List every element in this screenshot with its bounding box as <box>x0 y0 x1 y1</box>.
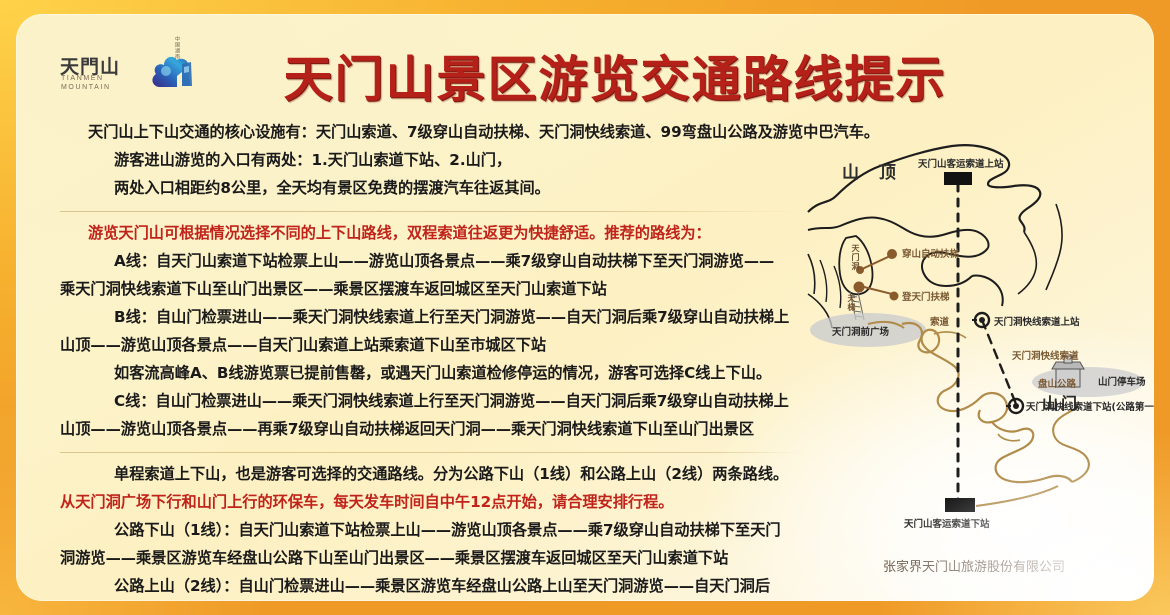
map-label-gate: 山门 <box>1042 390 1080 414</box>
intro-line-3: 两处入口相距约8公里，全天均有景区免费的摆渡汽车往返其间。 <box>60 174 800 202</box>
oneway-warning: 从天门洞广场下行和山门上行的环保车，每天发车时间自中午12点开始，请合理安排行程… <box>60 488 800 516</box>
map-label-parking: 山门停车场 <box>1098 374 1146 388</box>
map-label-cable-lower: 天门山客运索道下站 <box>904 516 990 530</box>
divider-1 <box>60 211 800 212</box>
map-label-express-cable: 天门洞快线索道 <box>1012 348 1079 362</box>
map-column: 山 顶 天门山客运索道上站 穿山自动扶梯 登天门扶梯 天门洞 天梯 天门洞前广场… <box>806 118 1142 601</box>
map-label-tianmen-cave: 天门洞 <box>850 244 861 271</box>
poster-header: 天門山 TIANMEN MOUNTAIN 中国湖南 <box>16 14 1154 118</box>
route-a-line-2: 乘天门洞快线索道下山至山门出景区——乘景区摆渡车返回城区至天门山索道下站 <box>60 275 800 303</box>
map-label-cable-upper: 天门山客运索道上站 <box>918 156 1004 170</box>
company-footer: 张家界天门山旅游股份有限公司 <box>806 556 1142 575</box>
road-up-line-2: 乘7级穿山自动扶梯上山顶——游览山顶各景点——自天门山索道上站乘索道下山至市城区… <box>60 600 800 601</box>
road-down-line-1: 公路下山（1线）：自天门山索道下站检票上山——游览山顶各景点——乘7级穿山自动扶… <box>60 516 800 544</box>
page-title: 天门山景区游览交通路线提示 <box>16 40 1154 111</box>
intro-line-1: 天门山上下山交通的核心设施有：天门山索道、7级穿山自动扶梯、天门洞快线索道、99… <box>60 118 800 146</box>
divider-2 <box>60 452 800 453</box>
routes-heading: 游览天门山可根据情况选择不同的上下山路线，双程索道往返更为快捷舒适。推荐的路线为… <box>60 219 800 247</box>
map-label-escalator-through: 穿山自动扶梯 <box>902 246 959 260</box>
map-label-cable-line: 索道 <box>930 314 949 328</box>
map-label-ladder: 天梯 <box>846 294 857 312</box>
map-label-express-upper: 天门洞快线索道上站 <box>994 314 1080 328</box>
map-label-escalator-gate: 登天门扶梯 <box>902 289 950 303</box>
road-down-line-2: 洞游览——乘景区游览车经盘山公路下山至山门出景区——乘景区摆渡车返回城区至天门山… <box>60 544 800 572</box>
map-label-mountain-road: 盘山公路 <box>1038 376 1076 390</box>
map-label-summit: 山 顶 <box>842 158 903 183</box>
intro-line-2: 游客进山游览的入口有两处：1.天门山索道下站、2.山门， <box>60 146 800 174</box>
map-label-plaza: 天门洞前广场 <box>832 324 889 338</box>
oneway-heading: 单程索道上下山，也是游客可选择的交通路线。分为公路下山（1线）和公路上山（2线）… <box>60 460 800 488</box>
road-up-line-1: 公路上山（2线）：自山门检票进山——乘景区游览车经盘山公路上山至天门洞游览——自… <box>60 572 800 600</box>
poster-panel: 天門山 TIANMEN MOUNTAIN 中国湖南 <box>16 14 1154 601</box>
map-graphics <box>806 134 1154 554</box>
poster-content: 天门山上下山交通的核心设施有：天门山索道、7级穿山自动扶梯、天门洞快线索道、99… <box>16 118 1154 601</box>
poster-root: 天門山 TIANMEN MOUNTAIN 中国湖南 <box>0 0 1170 615</box>
text-column: 天门山上下山交通的核心设施有：天门山索道、7级穿山自动扶梯、天门洞快线索道、99… <box>60 118 800 601</box>
route-a-line-1: A线：自天门山索道下站检票上山——游览山顶各景点——乘7级穿山自动扶梯下至天门洞… <box>60 247 800 275</box>
route-map: 山 顶 天门山客运索道上站 穿山自动扶梯 登天门扶梯 天门洞 天梯 天门洞前广场… <box>806 134 1154 554</box>
route-c-note: 如客流高峰A、B线游览票已提前售罄，或遇天门山索道检修停运的情况，游客可选择C线… <box>60 359 800 387</box>
route-c-line-1: C线：自山门检票进山——乘天门洞快线索道上行至天门洞游览——自天门洞后乘7级穿山… <box>60 387 800 415</box>
route-b-line-2: 山顶——游览山顶各景点——自天门山索道上站乘索道下山至市城区下站 <box>60 331 800 359</box>
route-b-line-1: B线：自山门检票进山——乘天门洞快线索道上行至天门洞游览——自天门洞后乘7级穿山… <box>60 303 800 331</box>
route-c-line-2: 山顶——游览山顶各景点——再乘7级穿山自动扶梯返回天门洞——乘天门洞快线索道下山… <box>60 415 800 443</box>
